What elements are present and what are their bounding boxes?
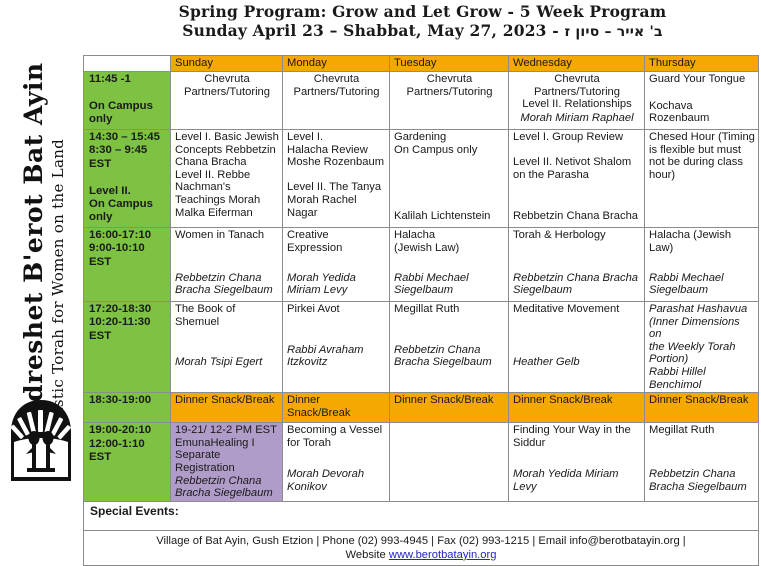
- corner-cell: [84, 56, 171, 72]
- class-cell-monday: Chevruta Partners/Tutoring: [283, 72, 390, 130]
- class-instructor: Morah Tsipi Egert: [175, 356, 279, 369]
- class-cell-tuesday: Chevruta Partners/Tutoring: [390, 72, 509, 130]
- website-label: Website: [346, 549, 389, 561]
- footer-website-line: Website www.berotbatayin.org: [87, 548, 755, 562]
- schedule-row: 17:20-18:30 10:20-11:30 ESTThe Book of S…: [84, 302, 759, 393]
- class-instructor: Morah Devorah Konikov: [287, 468, 386, 493]
- footer-contact-line: Village of Bat Ayin, Gush Etzion | Phone…: [87, 534, 755, 548]
- class-instructor: Rebbetzin Chana Bracha Siegelbaum: [513, 272, 641, 297]
- class-title: Chevruta Partners/Tutoring: [175, 73, 279, 98]
- class-cell-sunday: 19-21/ 12-2 PM EST EmunaHealing I Separa…: [171, 423, 283, 502]
- footer-row: Village of Bat Ayin, Gush Etzion | Phone…: [84, 530, 759, 565]
- class-cell-thursday: Megillat RuthRebbetzin Chana Bracha Sieg…: [645, 423, 759, 502]
- class-instructor: Rabbi Mechael Siegelbaum: [394, 272, 505, 297]
- class-cell-wednesday: Chevruta Partners/Tutoring Level II. Rel…: [509, 72, 645, 130]
- class-title: Level I. Basic Jewish Concepts Rebbetzin…: [175, 131, 279, 219]
- class-cell-tuesday: Megillat RuthRebbetzin Chana Bracha Sieg…: [390, 302, 509, 393]
- class-instructor: Kalilah Lichtenstein: [394, 210, 505, 223]
- class-title: Becoming a Vessel for Torah: [287, 424, 386, 449]
- day-header-sunday: Sunday: [171, 56, 283, 72]
- class-instructor: Morah Yedida Miriam Levy: [287, 272, 386, 297]
- class-title: Dinner Snack/Break: [649, 394, 755, 407]
- class-cell-monday: Creative ExpressionMorah Yedida Miriam L…: [283, 228, 390, 302]
- program-title: Spring Program: Grow and Let Grow - 5 We…: [90, 2, 755, 21]
- day-header-thursday: Thursday: [645, 56, 759, 72]
- class-cell-monday: Dinner Snack/Break: [283, 393, 390, 423]
- arch-sunrise-logo: [8, 398, 74, 483]
- class-title: Dinner Snack/Break: [513, 394, 641, 407]
- class-title: 19-21/ 12-2 PM EST EmunaHealing I Separa…: [175, 424, 279, 474]
- class-instructor: Rabbi Mechael Siegelbaum: [649, 272, 755, 297]
- website-link[interactable]: www.berotbatayin.org: [389, 549, 497, 561]
- class-cell-monday: Pirkei AvotRabbi Avraham Itzkovitz: [283, 302, 390, 393]
- page-title: Spring Program: Grow and Let Grow - 5 We…: [90, 2, 755, 42]
- class-cell-tuesday: Gardening On Campus onlyKalilah Lichtens…: [390, 130, 509, 228]
- class-secondary-title: Level II. The Tanya Morah Rachel Nagar: [287, 169, 386, 219]
- class-cell-wednesday: Level I. Group Review Level II. Netivot …: [509, 130, 645, 228]
- class-title: Chesed Hour (Timing is flexible but must…: [649, 131, 755, 181]
- class-cell-tuesday: [390, 423, 509, 502]
- class-cell-sunday: The Book of ShemuelMorah Tsipi Egert: [171, 302, 283, 393]
- program-dates: Sunday April 23 – Shabbat, May 27, 2023 …: [90, 21, 755, 42]
- class-cell-tuesday: Dinner Snack/Break: [390, 393, 509, 423]
- class-cell-wednesday: Torah & HerbologyRebbetzin Chana Bracha …: [509, 228, 645, 302]
- class-title: Halacha (Jewish Law): [649, 229, 755, 254]
- class-title: Halacha (Jewish Law): [394, 229, 505, 254]
- time-slot-cell: 19:00-20:10 12:00-1:10 EST: [84, 423, 171, 502]
- class-instructor: Morah Miriam Raphael: [513, 112, 641, 125]
- class-title: Torah & Herbology: [513, 229, 641, 242]
- special-events-row: Special Events:: [84, 501, 759, 530]
- time-slot-cell: 14:30 – 15:45 8:30 – 9:45 EST Level II. …: [84, 130, 171, 228]
- class-instructor: Parashat Hashavua (Inner Dimensions on t…: [649, 303, 755, 391]
- class-instructor: Morah Yedida Miriam Levy: [513, 468, 641, 493]
- time-slot-cell: 18:30-19:00: [84, 393, 171, 423]
- class-title: Guard Your Tongue: [649, 73, 755, 86]
- program-dates-hebrew: ב' אייר – סיון ז: [565, 24, 663, 40]
- class-cell-thursday: Dinner Snack/Break: [645, 393, 759, 423]
- class-title: Dinner Snack/Break: [175, 394, 279, 407]
- class-title: Chevruta Partners/Tutoring Level II. Rel…: [513, 73, 641, 111]
- class-cell-sunday: Chevruta Partners/Tutoring: [171, 72, 283, 130]
- class-cell-sunday: Level I. Basic Jewish Concepts Rebbetzin…: [171, 130, 283, 228]
- special-events-label: Special Events:: [84, 501, 759, 530]
- class-cell-thursday: Halacha (Jewish Law)Rabbi Mechael Siegel…: [645, 228, 759, 302]
- class-cell-monday: Level I. Halacha Review Moshe Rozenbaum …: [283, 130, 390, 228]
- class-title: Pirkei Avot: [287, 303, 386, 316]
- class-title: Chevruta Partners/Tutoring: [287, 73, 386, 98]
- class-instructor: Rebbetzin Chana Bracha Siegelbaum: [649, 468, 755, 493]
- schedule-row: 11:45 -1 On Campus onlyChevruta Partners…: [84, 72, 759, 130]
- class-instructor: Heather Gelb: [513, 356, 641, 369]
- program-dates-english: Sunday April 23 – Shabbat, May 27, 2023 …: [182, 21, 564, 40]
- class-cell-wednesday: Meditative MovementHeather Gelb: [509, 302, 645, 393]
- class-cell-thursday: Chesed Hour (Timing is flexible but must…: [645, 130, 759, 228]
- schedule-row: 14:30 – 15:45 8:30 – 9:45 EST Level II. …: [84, 130, 759, 228]
- brand-name: Midreshet B'erot Bat Ayin: [20, 20, 48, 440]
- day-header-tuesday: Tuesday: [390, 56, 509, 72]
- class-cell-tuesday: Halacha (Jewish Law)Rabbi Mechael Siegel…: [390, 228, 509, 302]
- class-instructor: Rebbetzin Chana Bracha: [513, 210, 641, 223]
- table-header-row: Sunday Monday Tuesday Wednesday Thursday: [84, 56, 759, 72]
- class-title: Finding Your Way in the Siddur: [513, 424, 641, 449]
- schedule-body: 11:45 -1 On Campus onlyChevruta Partners…: [84, 72, 759, 502]
- time-slot-cell: 17:20-18:30 10:20-11:30 EST: [84, 302, 171, 393]
- class-title: Chevruta Partners/Tutoring: [394, 73, 505, 98]
- time-slot-cell: 11:45 -1 On Campus only: [84, 72, 171, 130]
- class-title: Dinner Snack/Break: [394, 394, 505, 407]
- class-title: Gardening On Campus only: [394, 131, 505, 156]
- class-title: Megillat Ruth: [649, 424, 755, 437]
- schedule-row: 19:00-20:10 12:00-1:10 EST19-21/ 12-2 PM…: [84, 423, 759, 502]
- class-title: The Book of Shemuel: [175, 303, 279, 328]
- class-title: Creative Expression: [287, 229, 386, 254]
- day-header-monday: Monday: [283, 56, 390, 72]
- class-cell-sunday: Women in TanachRebbetzin Chana Bracha Si…: [171, 228, 283, 302]
- weekly-schedule-table: Sunday Monday Tuesday Wednesday Thursday…: [83, 55, 759, 566]
- brand-tagline: Holistic Torah for Women on the Land: [49, 20, 68, 440]
- class-title: Dinner Snack/Break: [287, 394, 386, 419]
- class-instructor: Rabbi Avraham Itzkovitz: [287, 344, 386, 369]
- class-cell-wednesday: Finding Your Way in the SiddurMorah Yedi…: [509, 423, 645, 502]
- time-slot-cell: 16:00-17:10 9:00-10:10 EST: [84, 228, 171, 302]
- contact-footer: Village of Bat Ayin, Gush Etzion | Phone…: [84, 530, 759, 565]
- class-title: Women in Tanach: [175, 229, 279, 242]
- class-cell-monday: Becoming a Vessel for TorahMorah Devorah…: [283, 423, 390, 502]
- class-secondary-title: Level II. Netivot Shalom on the Parasha: [513, 144, 641, 182]
- class-title: Level I. Halacha Review Moshe Rozenbaum: [287, 131, 386, 169]
- class-instructor: Rebbetzin Chana Bracha Siegelbaum: [175, 272, 279, 297]
- class-cell-wednesday: Dinner Snack/Break: [509, 393, 645, 423]
- class-cell-sunday: Dinner Snack/Break: [171, 393, 283, 423]
- day-header-wednesday: Wednesday: [509, 56, 645, 72]
- class-instructor: Rebbetzin Chana Bracha Siegelbaum: [394, 344, 505, 369]
- class-title: Meditative Movement: [513, 303, 641, 316]
- schedule-row: 18:30-19:00Dinner Snack/BreakDinner Snac…: [84, 393, 759, 423]
- class-cell-thursday: Parashat Hashavua (Inner Dimensions on t…: [645, 302, 759, 393]
- class-cell-thursday: Guard Your TongueKochava Rozenbaum: [645, 72, 759, 130]
- class-title: Level I. Group Review: [513, 131, 641, 144]
- class-title: Megillat Ruth: [394, 303, 505, 316]
- class-instructor: Kochava Rozenbaum: [649, 100, 755, 125]
- class-instructor: Rebbetzin Chana Bracha Siegelbaum: [175, 475, 279, 500]
- schedule-row: 16:00-17:10 9:00-10:10 ESTWomen in Tanac…: [84, 228, 759, 302]
